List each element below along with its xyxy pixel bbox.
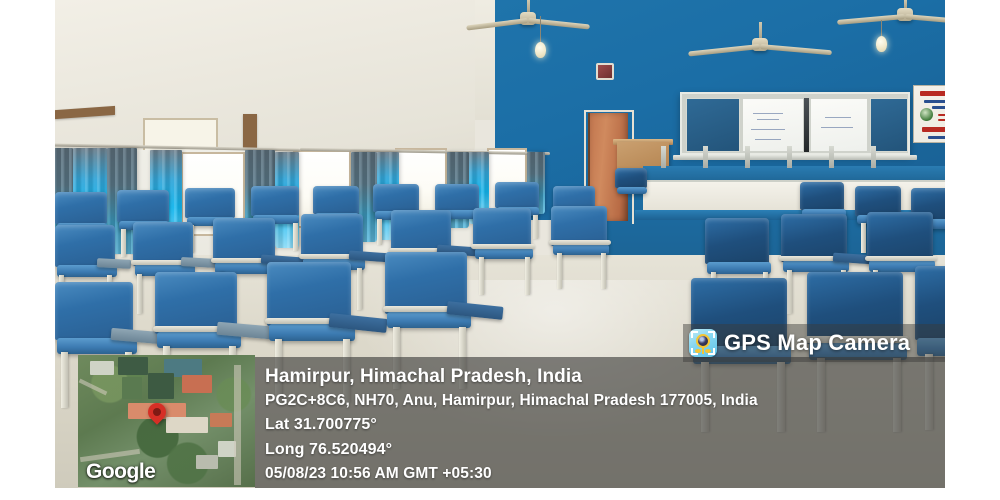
fan-blade: [688, 44, 760, 56]
location-address: PG2C+8C6, NH70, Anu, Hamirpur, Himachal …: [265, 389, 945, 412]
chair-back: [313, 186, 359, 214]
map-building: [118, 357, 148, 375]
whiteboard-left: [742, 98, 804, 152]
fan-blade: [466, 18, 528, 31]
chair-back: [117, 190, 169, 222]
map-building: [166, 417, 208, 433]
board-scribble: [751, 129, 785, 130]
board-scribble: [821, 127, 853, 128]
chair-seat: [707, 262, 771, 274]
chair-leg: [121, 229, 126, 257]
dais-rail-leg: [787, 146, 792, 168]
dais-rail-leg: [703, 146, 708, 168]
board-scribble: [755, 139, 781, 140]
chair-leg: [293, 223, 298, 251]
screenshot-canvas: Google GPS Map Camera Hamirpur, Himachal…: [0, 0, 1000, 500]
chair-arm: [549, 240, 611, 245]
board-panel-left: [686, 98, 740, 152]
chair-leg: [525, 257, 530, 295]
chair-writing-tablet: [97, 258, 131, 269]
board-center-strip: [804, 98, 809, 152]
chair-back: [800, 182, 844, 210]
chair-arm: [865, 256, 937, 261]
chair-leg: [557, 253, 562, 289]
chair-back: [373, 184, 419, 212]
chair-leg: [137, 274, 142, 314]
ceiling-fan-1: [463, 0, 593, 30]
chair-back: [615, 168, 647, 188]
light-bulb-2: [876, 36, 887, 52]
map-building: [90, 361, 114, 375]
capture-timestamp: 05/08/23 10:56 AM GMT +05:30: [265, 462, 945, 486]
board-scribble: [825, 117, 851, 118]
longitude-value: Long 76.520494°: [265, 437, 945, 462]
map-building: [196, 455, 218, 469]
chair-back: [251, 186, 299, 216]
whiteboard-right: [810, 98, 868, 152]
fan-blade: [760, 44, 832, 55]
photo-image: Google GPS Map Camera Hamirpur, Himachal…: [55, 0, 945, 488]
location-title: Hamirpur, Himachal Pradesh, India: [265, 365, 945, 389]
chair-leg: [479, 257, 484, 295]
ceiling-fan-2: [685, 22, 835, 56]
gps-map-camera-app-icon: [689, 329, 717, 357]
flower-leaf-icon: [695, 349, 701, 353]
flower-leaf-icon: [705, 349, 711, 353]
app-name-label: GPS Map Camera: [724, 330, 910, 356]
chair-leg: [861, 223, 866, 253]
conference-banner: [913, 85, 945, 143]
chair-back: [55, 192, 107, 224]
banner-line: [928, 136, 945, 139]
flower-stem-icon: [702, 347, 704, 354]
camera-lens-icon: [696, 334, 710, 348]
map-road: [234, 365, 241, 485]
chair-leg: [601, 253, 606, 289]
wall-mounted-box: [596, 63, 614, 80]
chair-back: [185, 188, 235, 218]
map-building: [210, 413, 232, 427]
dais-rail-leg: [829, 146, 834, 168]
map-building: [122, 377, 142, 399]
banner-line: [932, 106, 945, 109]
chair-back: [495, 182, 539, 208]
banner-line: [938, 119, 945, 121]
board-scribble: [753, 113, 783, 114]
chair-back: [435, 184, 479, 211]
banner-seal-logo: [920, 108, 933, 121]
board-panel-right: [870, 98, 908, 152]
chair-leg: [61, 352, 68, 408]
board-ledge: [673, 155, 917, 160]
chair-leg: [357, 268, 362, 310]
chair-leg: [787, 270, 792, 314]
map-building: [182, 375, 212, 393]
banner-line: [938, 114, 945, 116]
dais-rail-leg: [871, 146, 876, 168]
lamp-wire-1: [540, 16, 541, 44]
map-thumbnail[interactable]: Google: [78, 355, 255, 487]
light-bulb-1: [535, 42, 546, 58]
banner-line: [922, 127, 945, 132]
chair-back: [705, 218, 769, 264]
dais-rail-leg: [745, 146, 750, 168]
fan-blade: [528, 18, 590, 29]
fan-blade: [905, 14, 945, 25]
map-building: [148, 373, 174, 399]
geotag-info-panel: Hamirpur, Himachal Pradesh, India PG2C+8…: [255, 357, 945, 488]
latitude-value: Lat 31.700775°: [265, 412, 945, 437]
fan-blade: [837, 14, 905, 25]
chair-leg: [377, 219, 382, 245]
google-watermark: Google: [86, 460, 155, 484]
chair-seat: [617, 187, 647, 194]
dais-rail-leg: [661, 146, 666, 168]
banner-line: [924, 100, 945, 103]
board-scribble: [757, 119, 779, 120]
banner-line: [920, 91, 945, 96]
chair-back: [867, 212, 933, 262]
ceiling-fan-3: [835, 0, 945, 30]
chair-leg: [533, 215, 538, 239]
chair-arm: [471, 244, 535, 249]
